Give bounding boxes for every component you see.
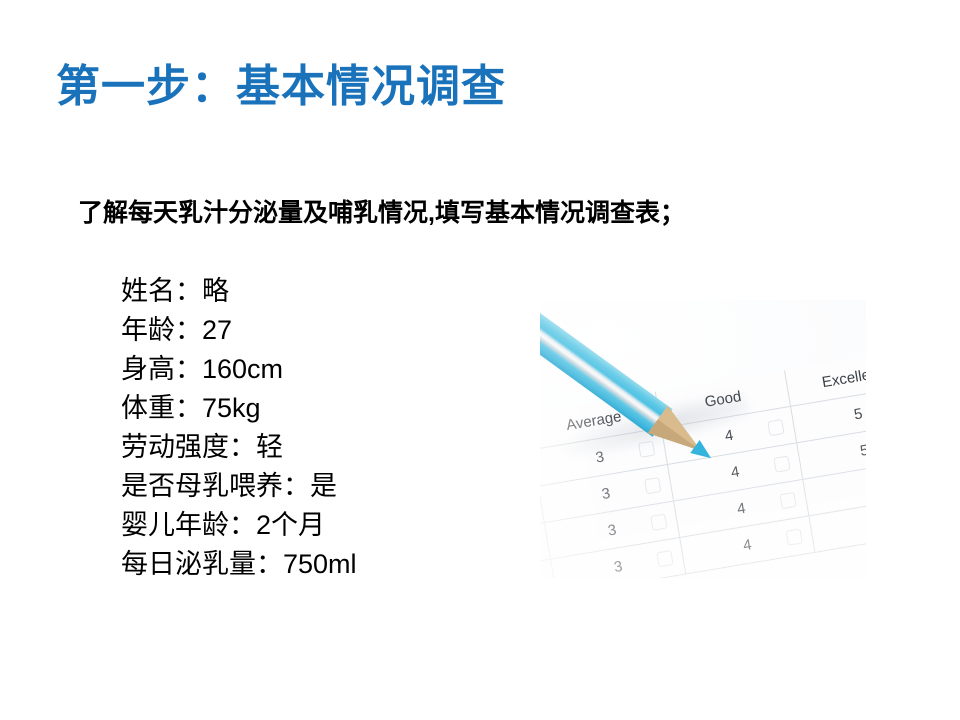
list-item: 年龄：27 (121, 311, 521, 350)
list-item: 每日泌乳量：750ml (121, 545, 521, 584)
bubble-icon (650, 514, 667, 531)
bubble-icon (779, 492, 796, 509)
field-label: 姓名 (121, 276, 175, 306)
slide-subtitle: 了解每天乳汁分泌量及哺乳情况,填写基本情况调查表； (78, 198, 685, 228)
field-value: 27 (202, 315, 232, 345)
field-value: 轻 (256, 432, 283, 462)
field-separator: ： (175, 393, 202, 423)
field-value: 是 (310, 471, 337, 501)
list-item: 姓名：略 (121, 272, 521, 311)
field-label: 每日泌乳量 (121, 549, 256, 579)
field-separator: ： (175, 354, 202, 384)
field-separator: ： (175, 276, 202, 306)
survey-field-list: 姓名：略 年龄：27 身高：160cm 体重：75kg 劳动强度：轻 是否母乳喂… (121, 272, 521, 584)
field-value: 略 (202, 276, 229, 306)
field-value: 75kg (202, 393, 261, 423)
slide-canvas: 第一步：基本情况调查 了解每天乳汁分泌量及哺乳情况,填写基本情况调查表； 姓名：… (0, 0, 960, 720)
field-value: 750ml (283, 549, 357, 579)
field-label: 是否母乳喂养 (121, 471, 283, 501)
list-item: 是否母乳喂养：是 (121, 467, 521, 506)
list-item: 体重：75kg (121, 389, 521, 428)
field-separator: ： (229, 432, 256, 462)
list-item: 身高：160cm (121, 350, 521, 389)
bubble-icon (786, 528, 803, 545)
field-separator: ： (229, 510, 256, 540)
field-label: 劳动强度 (121, 432, 229, 462)
list-item: 婴儿年龄：2个月 (121, 506, 521, 545)
bubble-icon (767, 419, 784, 436)
bubble-icon (656, 550, 673, 567)
field-separator: ： (283, 471, 310, 501)
field-label: 婴儿年龄 (121, 510, 229, 540)
field-label: 身高 (121, 354, 175, 384)
page-title: 第一步：基本情况调查 (56, 64, 506, 110)
field-value: 2个月 (256, 510, 325, 540)
field-label: 年龄 (121, 315, 175, 345)
bubble-icon (644, 477, 661, 494)
bubble-icon (773, 455, 790, 472)
field-value: 160cm (202, 354, 283, 384)
field-separator: ： (256, 549, 283, 579)
rating-form-photo: Average Good Excellent 3 4 5 3 4 5 (540, 300, 866, 578)
list-item: 劳动强度：轻 (121, 428, 521, 467)
field-separator: ： (175, 315, 202, 345)
field-label: 体重 (121, 393, 175, 423)
